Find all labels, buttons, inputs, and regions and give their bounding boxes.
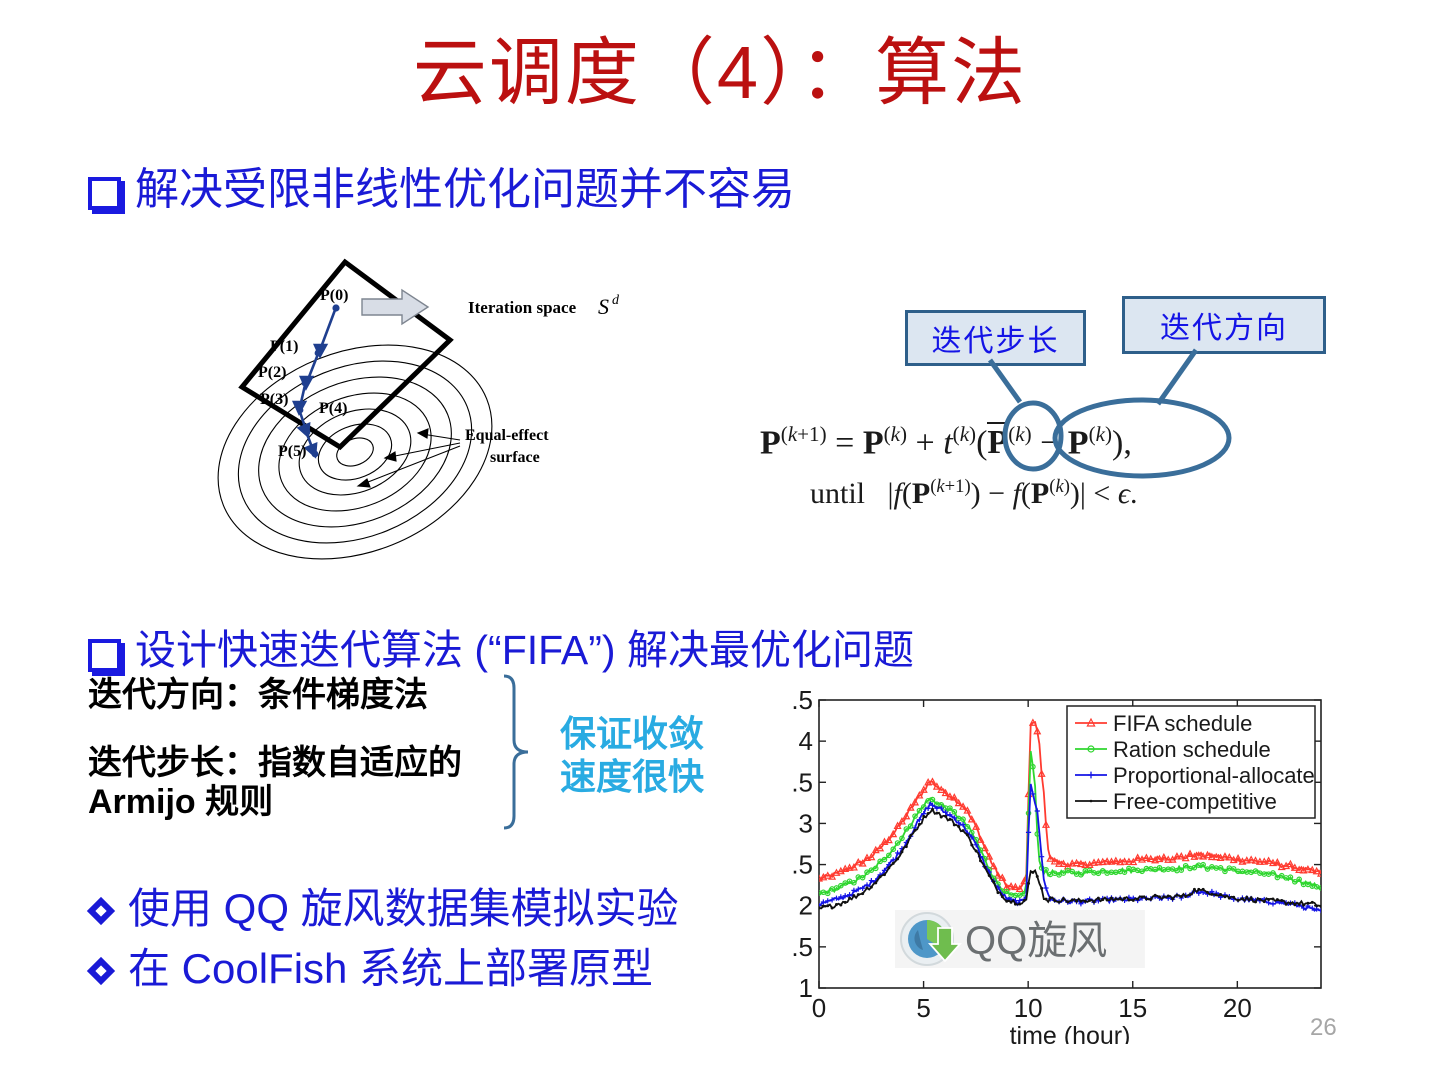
x-axis-label: time (hour) bbox=[1010, 1022, 1131, 1044]
bullet-item-1: 解决受限非线性优化问题并不容易 bbox=[88, 166, 795, 214]
legend-marker-3 bbox=[1090, 800, 1093, 803]
leader-line-direction bbox=[1158, 350, 1196, 404]
x-tick-label: 0 bbox=[812, 993, 826, 1023]
page-title: 云调度（4）：算法 bbox=[0, 34, 1440, 112]
callout-direction: 迭代方向 bbox=[1122, 296, 1326, 354]
watermark-label: QQ旋风 bbox=[965, 919, 1107, 963]
slide-canvas: 云调度（4）：算法 解决受限非线性优化问题并不容易 bbox=[0, 0, 1440, 1080]
diamond-bullet-icon bbox=[88, 958, 114, 984]
y-tick-label: .5 bbox=[791, 850, 813, 880]
brace-svg bbox=[498, 672, 538, 832]
point-label-p0: P(0) bbox=[320, 287, 348, 304]
iteration-space-label: Iteration space bbox=[468, 298, 577, 317]
y-tick-label: .5 bbox=[791, 685, 813, 715]
y-tick-label: .5 bbox=[791, 932, 813, 962]
y-tick-label: 2 bbox=[799, 891, 813, 921]
point-label-p3: P(3) bbox=[260, 391, 288, 408]
iteration-space-exponent: d bbox=[612, 293, 620, 308]
y-tick-label: 3 bbox=[799, 808, 813, 838]
chart-svg: .54.53.52.5105101520time (hour)QQ旋风FIFA … bbox=[775, 682, 1331, 1044]
point-label-p4: P(4) bbox=[319, 400, 347, 417]
experiment-chart: .54.53.52.5105101520time (hour)QQ旋风FIFA … bbox=[775, 682, 1331, 1044]
point-label-p5: P(5) bbox=[278, 443, 306, 460]
legend-label-0: FIFA schedule bbox=[1113, 711, 1252, 736]
subpoint-step-line-1: 迭代步长：指数自适应的 bbox=[88, 744, 462, 783]
iteration-space-diagram: P(0) P(1) P(2) P(3) P(4) P(5) Iteration … bbox=[150, 252, 690, 562]
convergence-note-line-1: 保证收敛 bbox=[560, 712, 704, 755]
point-label-p2: P(2) bbox=[258, 364, 286, 381]
x-tick-label: 15 bbox=[1118, 993, 1147, 1023]
formula-main-line: P(k+1) = P(k) + t(k)(P(k) − P(k)), bbox=[760, 422, 1132, 462]
square-bullet-icon bbox=[88, 177, 121, 210]
legend-label-3: Free-competitive bbox=[1113, 789, 1277, 814]
bullet-3-label: 使用 QQ 旋风数据集模拟实验 bbox=[128, 886, 679, 932]
subpoint-direction: 迭代方向：条件梯度法 bbox=[88, 676, 428, 715]
qq-watermark: QQ旋风 bbox=[895, 910, 1145, 968]
bullet-item-4: 在 CoolFish 系统上部署原型 bbox=[88, 946, 653, 992]
equal-effect-label-line2: surface bbox=[490, 449, 540, 466]
x-tick-label: 10 bbox=[1014, 993, 1043, 1023]
subpoint-step-size: 迭代步长：指数自适应的 Armijo 规则 bbox=[88, 744, 462, 822]
convergence-note: 保证收敛 速度很快 bbox=[560, 712, 704, 798]
bullet-item-2: 设计快速迭代算法 (“FIFA”) 解决最优化问题 bbox=[88, 628, 914, 673]
grouping-brace bbox=[498, 672, 538, 832]
equal-effect-label-line1: Equal-effect bbox=[465, 427, 549, 444]
y-tick-label: .5 bbox=[791, 767, 813, 797]
bullet-4-label: 在 CoolFish 系统上部署原型 bbox=[128, 946, 653, 992]
iteration-space-symbol: S bbox=[598, 294, 609, 319]
legend-label-2: Proportional-allocate bbox=[1113, 763, 1315, 788]
legend-label-1: Ration schedule bbox=[1113, 737, 1271, 762]
convergence-note-line-2: 速度很快 bbox=[560, 755, 704, 798]
diamond-bullet-icon bbox=[88, 898, 114, 924]
update-formula: P(k+1) = P(k) + t(k)(P(k) − P(k)), until… bbox=[750, 412, 1340, 532]
x-tick-label: 5 bbox=[916, 993, 930, 1023]
y-tick-label: 4 bbox=[799, 726, 813, 756]
square-bullet-icon bbox=[88, 639, 121, 672]
leader-line-step-size bbox=[990, 360, 1020, 402]
callout-step-size: 迭代步长 bbox=[905, 310, 1086, 366]
x-tick-label: 20 bbox=[1223, 993, 1252, 1023]
page-number: 26 bbox=[1310, 1014, 1337, 1042]
chart-legend: FIFA scheduleRation scheduleProportional… bbox=[1067, 706, 1315, 818]
point-label-p1: P(1) bbox=[270, 338, 298, 355]
subpoint-step-line-2: Armijo 规则 bbox=[88, 783, 462, 822]
bullet-1-label: 解决受限非线性优化问题并不容易 bbox=[135, 166, 795, 214]
until-word: until bbox=[810, 477, 865, 510]
formula-until-line: until |f(P(k+1)) − f(P(k))| < ϵ. bbox=[810, 476, 1137, 511]
bullet-2-label: 设计快速迭代算法 (“FIFA”) 解决最优化问题 bbox=[135, 628, 914, 673]
diagram-svg: P(0) P(1) P(2) P(3) P(4) P(5) Iteration … bbox=[150, 252, 690, 562]
equal-effect-leader-lines bbox=[358, 429, 460, 487]
bullet-item-3: 使用 QQ 旋风数据集模拟实验 bbox=[88, 886, 679, 932]
